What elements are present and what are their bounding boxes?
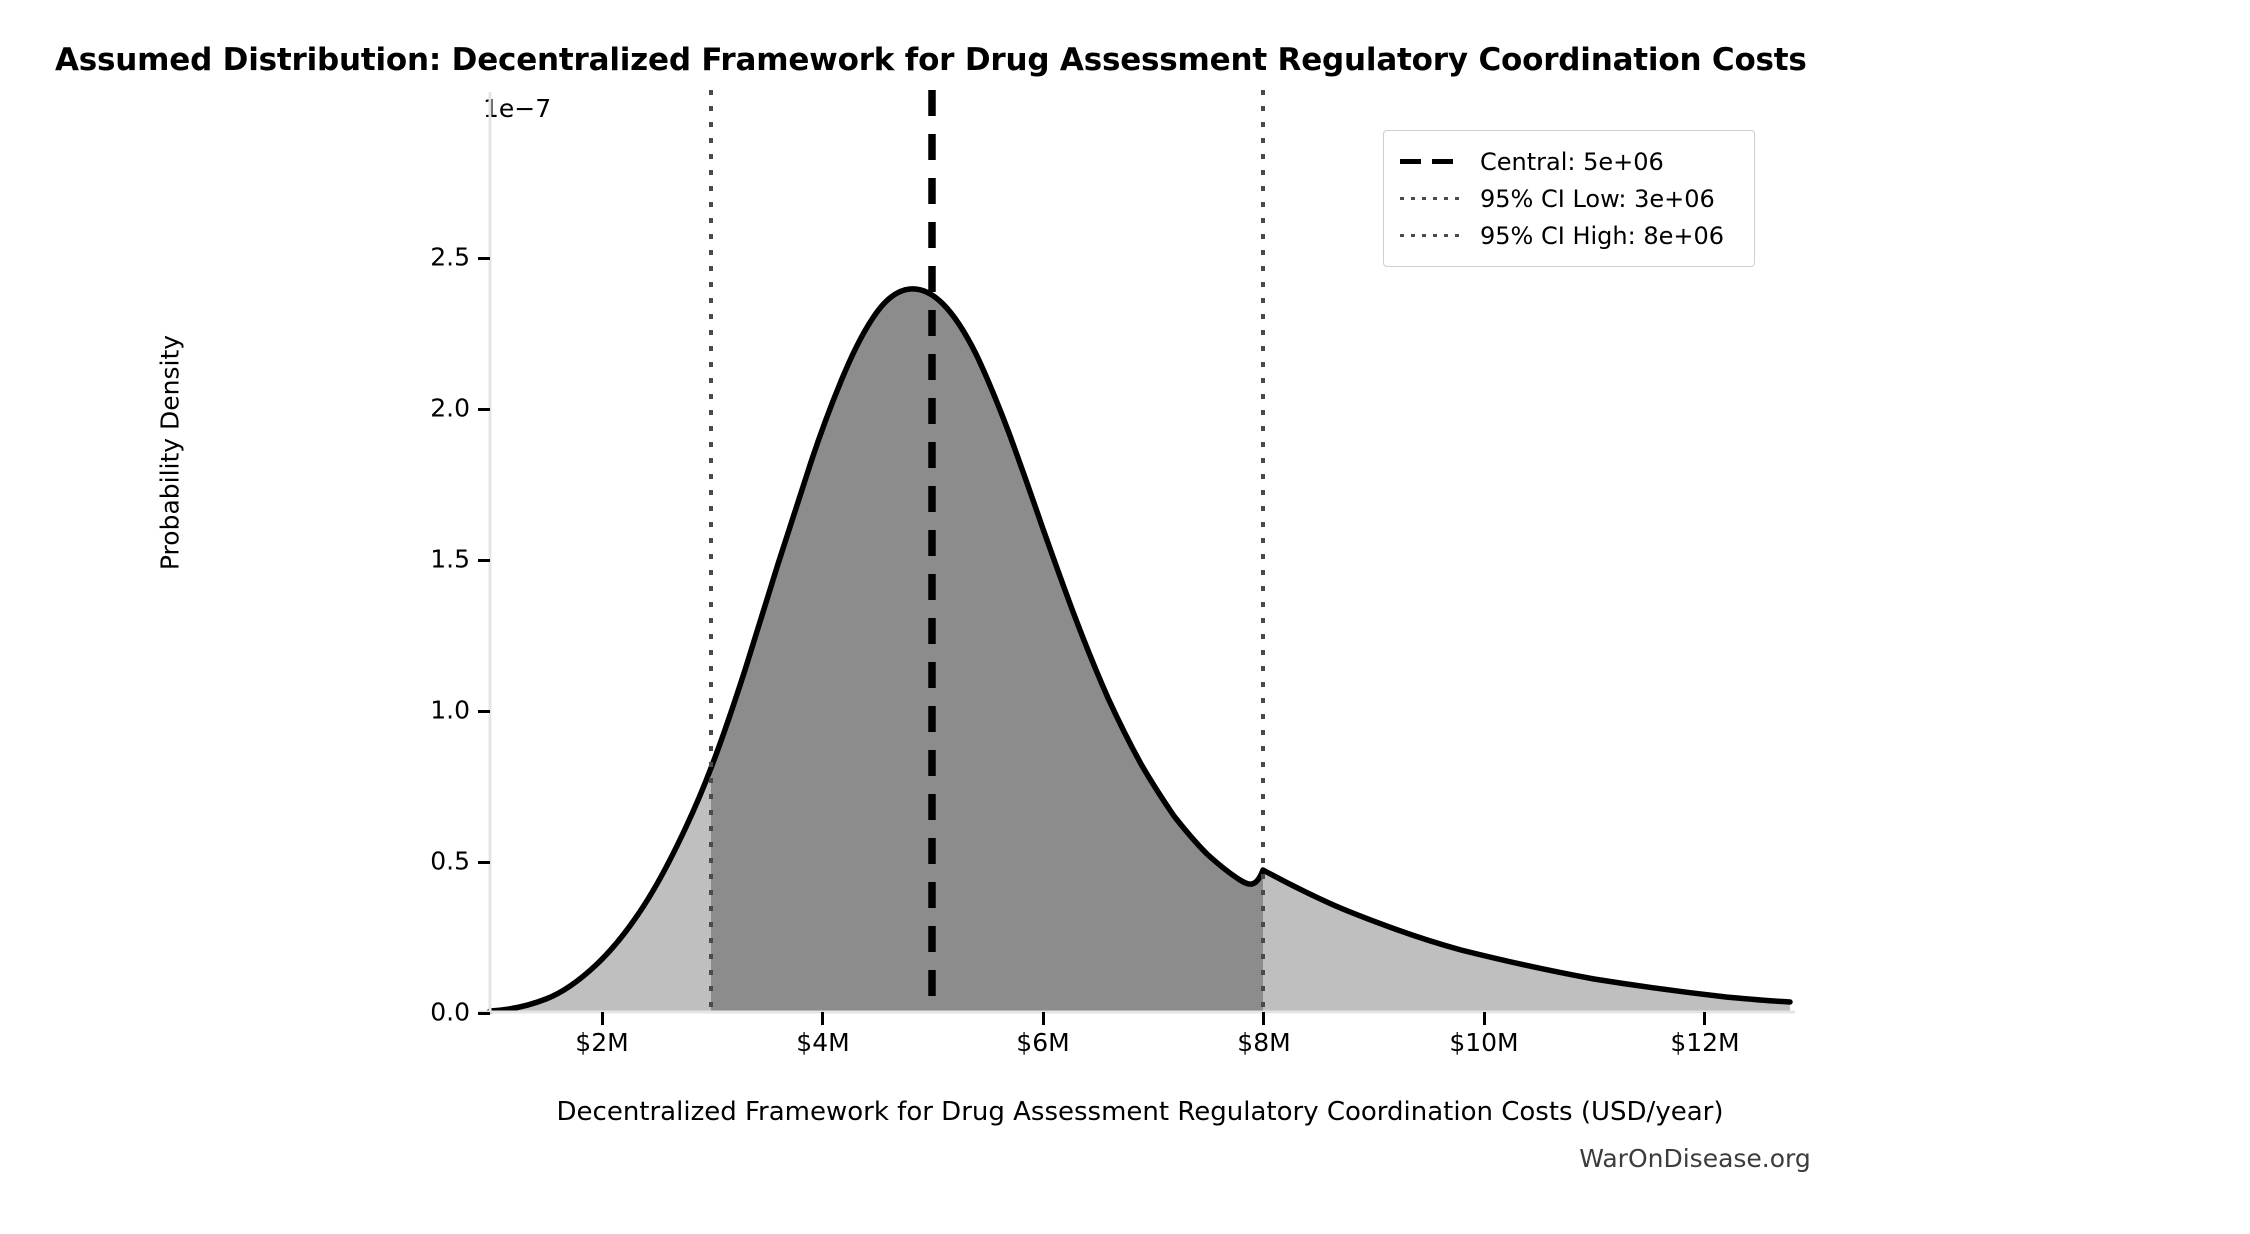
dotted-line-icon [1398,226,1464,246]
y-axis-tick-labels: 0.0 0.5 1.0 1.5 2.0 2.5 [360,120,470,1012]
legend-item-ci-high[interactable]: 95% CI High: 8e+06 [1398,217,1740,254]
legend-item-label: 95% CI Low: 3e+06 [1480,185,1715,213]
y-tick-mark [478,1012,490,1015]
chart-figure: Assumed Distribution: Decentralized Fram… [0,0,2250,1234]
legend-item-ci-low[interactable]: 95% CI Low: 3e+06 [1398,180,1740,217]
y-axis-exponent-label: 1e−7 [483,94,551,123]
y-tick-mark [478,408,490,411]
x-tick-label: $8M [1184,1028,1344,1057]
y-tick-mark [478,710,490,713]
x-tick-label: $6M [963,1028,1123,1057]
x-tick-mark [1703,1012,1706,1025]
x-axis-tick-labels: $2M $4M $6M $8M $10M $12M [490,1028,1790,1068]
y-tick-label: 1.0 [380,696,470,725]
legend-item-label: Central: 5e+06 [1480,148,1664,176]
y-tick-label: 0.5 [380,847,470,876]
watermark-text: WarOnDisease.org [1530,1144,1860,1173]
y-tick-label: 2.5 [380,243,470,272]
y-axis-title: Probability Density [156,273,185,633]
x-tick-label: $2M [522,1028,682,1057]
x-tick-label: $12M [1625,1028,1785,1057]
x-tick-mark [1042,1012,1045,1025]
y-tick-mark [478,257,490,260]
y-tick-label: 2.0 [380,394,470,423]
y-tick-label: 0.0 [380,998,470,1027]
x-tick-mark [601,1012,604,1025]
x-tick-mark [1483,1012,1486,1025]
x-tick-mark [821,1012,824,1025]
page-title: Assumed Distribution: Decentralized Fram… [55,42,2215,78]
y-tick-mark [478,861,490,864]
legend-item-label: 95% CI High: 8e+06 [1480,222,1724,250]
dashed-line-icon [1398,152,1464,172]
tail-fill-left [490,768,711,1012]
legend-item-central[interactable]: Central: 5e+06 [1398,143,1740,180]
x-axis-title: Decentralized Framework for Drug Assessm… [490,1097,1790,1127]
tail-fill-right [1263,870,1790,1012]
x-tick-label: $4M [743,1028,903,1057]
chart-legend[interactable]: Central: 5e+06 95% CI Low: 3e+06 95% CI … [1383,130,1755,267]
ci-fill [711,289,1263,1012]
x-tick-mark [1262,1012,1265,1025]
dotted-line-icon [1398,189,1464,209]
y-tick-label: 1.5 [380,545,470,574]
y-tick-mark [478,559,490,562]
x-tick-label: $10M [1404,1028,1564,1057]
